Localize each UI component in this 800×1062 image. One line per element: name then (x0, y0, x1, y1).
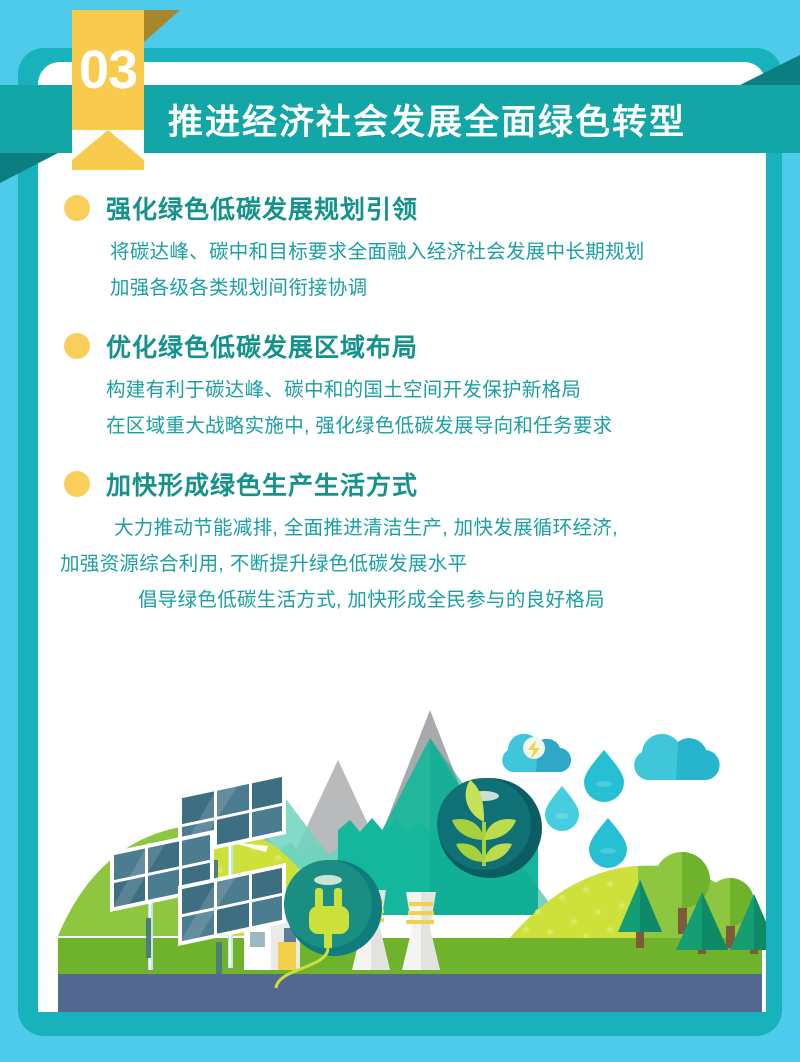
bullet-dot-icon (64, 195, 90, 221)
body-line: 大力推动节能减排, 全面推进清洁生产, 加快发展循环经济, (38, 510, 766, 546)
infographic-page: 推进经济社会发展全面绿色转型 03 强化绿色低碳发展规划引领 将碳达峰、碳中和目… (0, 0, 800, 1062)
section-header: 加快形成绿色生产生活方式 (38, 466, 766, 502)
section-title: 加快形成绿色生产生活方式 (106, 466, 418, 502)
section-item: 强化绿色低碳发展规划引领 将碳达峰、碳中和目标要求全面融入经济社会发展中长期规划… (38, 190, 766, 306)
ribbon-fold (144, 10, 180, 42)
section-item: 优化绿色低碳发展区域布局 构建有利于碳达峰、碳中和的国土空间开发保护新格局 在区… (38, 328, 766, 444)
body-line: 在区域重大战略实施中, 强化绿色低碳发展导向和任务要求 (38, 408, 766, 444)
section-header: 强化绿色低碳发展规划引领 (38, 190, 766, 226)
banner-fold-right (740, 55, 800, 85)
ribbon-notch (72, 130, 144, 160)
bullet-dot-icon (64, 333, 90, 359)
section-title: 优化绿色低碳发展区域布局 (106, 328, 418, 364)
body-line: 构建有利于碳达峰、碳中和的国土空间开发保护新格局 (38, 372, 766, 408)
body-line: 加强各级各类规划间衔接协调 (38, 270, 766, 306)
sections-list: 强化绿色低碳发展规划引领 将碳达峰、碳中和目标要求全面融入经济社会发展中长期规划… (38, 190, 766, 640)
body-line: 将碳达峰、碳中和目标要求全面融入经济社会发展中长期规划 (38, 234, 766, 270)
body-line: 加强资源综合利用, 不断提升绿色低碳发展水平 (38, 546, 766, 582)
bullet-dot-icon (64, 471, 90, 497)
banner-fold-left (0, 153, 58, 183)
section-body: 构建有利于碳达峰、碳中和的国土空间开发保护新格局 在区域重大战略实施中, 强化绿… (38, 372, 766, 444)
section-title: 强化绿色低碳发展规划引领 (106, 190, 418, 226)
section-header: 优化绿色低碳发展区域布局 (38, 328, 766, 364)
illustration (38, 700, 766, 1012)
section-item: 加快形成绿色生产生活方式 大力推动节能减排, 全面推进清洁生产, 加快发展循环经… (38, 466, 766, 618)
section-number: 03 (72, 10, 144, 130)
section-body: 大力推动节能减排, 全面推进清洁生产, 加快发展循环经济, 加强资源综合利用, … (38, 510, 766, 618)
page-title: 推进经济社会发展全面绿色转型 (168, 85, 686, 153)
road-band (58, 974, 762, 1012)
body-line: 倡导绿色低碳生活方式, 加快形成全民参与的良好格局 (38, 582, 766, 618)
section-body: 将碳达峰、碳中和目标要求全面融入经济社会发展中长期规划 加强各级各类规划间衔接协… (38, 234, 766, 306)
